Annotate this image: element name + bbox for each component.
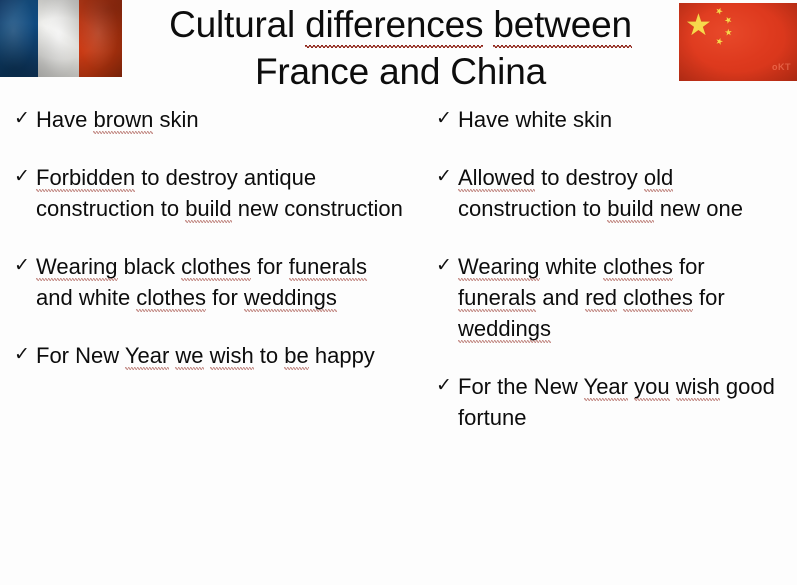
- checkmark-icon: ✓: [436, 104, 458, 133]
- slide-title-line-2: France and China: [128, 49, 673, 96]
- misspelled-word: Year: [125, 343, 169, 368]
- bullet-item: ✓For New Year we wish to be happy: [14, 340, 406, 371]
- misspelled-word: you: [634, 374, 669, 399]
- checkmark-icon: ✓: [14, 340, 36, 369]
- bullet-text-run: For the New: [458, 374, 584, 399]
- bullet-item: ✓For the New Year you wish good fortune: [436, 371, 786, 433]
- slide-title-line-1: Cultural differences between: [128, 2, 673, 49]
- misspelled-word: old: [644, 165, 673, 190]
- misspelled-word: weddings: [458, 316, 551, 341]
- bullet-text: For the New Year you wish good fortune: [458, 371, 786, 433]
- misspelled-word: Allowed: [458, 165, 535, 190]
- france-flag-red-band: [79, 0, 122, 77]
- china-flag-watermark: oKT: [772, 62, 791, 72]
- misspelled-word: build: [185, 196, 231, 221]
- checkmark-icon: ✓: [436, 162, 458, 191]
- bullet-text: Allowed to destroy old construction to b…: [458, 162, 786, 224]
- bullet-item: ✓Have white skin: [436, 104, 786, 135]
- bullet-text-run: and: [536, 285, 585, 310]
- title-text-space: [483, 4, 493, 45]
- checkmark-icon: ✓: [436, 251, 458, 280]
- misspelled-word: be: [284, 343, 308, 368]
- bullet-text-run: for: [251, 254, 289, 279]
- bullet-text-run: skin: [153, 107, 198, 132]
- bullet-text-run: [204, 343, 210, 368]
- bullet-item: ✓Wearing white clothes for funerals and …: [436, 251, 786, 344]
- misspelled-word: funerals: [458, 285, 536, 310]
- china-flag-small-star-4: ★: [714, 37, 723, 45]
- france-flag-blue-band: [0, 0, 38, 77]
- france-column: ✓Have brown skin✓Forbidden to destroy an…: [14, 104, 406, 398]
- bullet-text-run: construction to: [458, 196, 607, 221]
- misspelled-word: clothes: [603, 254, 673, 279]
- misspelled-word: build: [607, 196, 653, 221]
- misspelled-word: brown: [93, 107, 153, 132]
- misspelled-word: Year: [584, 374, 628, 399]
- bullet-text-run: Have: [36, 107, 93, 132]
- bullet-text-run: for: [206, 285, 244, 310]
- bullet-text-run: to: [254, 343, 285, 368]
- bullet-text-run: new construction: [232, 196, 403, 221]
- bullet-text-run: for: [673, 254, 705, 279]
- misspelled-word: wish: [676, 374, 720, 399]
- france-flag: [0, 0, 122, 77]
- bullet-text: Have white skin: [458, 104, 786, 135]
- bullet-item: ✓Allowed to destroy old construction to …: [436, 162, 786, 224]
- bullet-text-run: For New: [36, 343, 125, 368]
- bullet-item: ✓Have brown skin: [14, 104, 406, 135]
- title-text-prefix: Cultural: [169, 4, 305, 45]
- china-flag-large-star: ★: [685, 11, 712, 41]
- misspelled-word: clothes: [181, 254, 251, 279]
- bullet-item: ✓Wearing black clothes for funerals and …: [14, 251, 406, 313]
- misspelled-word: Wearing: [36, 254, 118, 279]
- bullet-text: For New Year we wish to be happy: [36, 340, 406, 371]
- misspelled-word: wish: [210, 343, 254, 368]
- checkmark-icon: ✓: [436, 371, 458, 400]
- china-column: ✓Have white skin✓Allowed to destroy old …: [436, 104, 786, 460]
- bullet-text: Wearing black clothes for funerals and w…: [36, 251, 406, 313]
- title-word-differences: differences: [305, 4, 483, 45]
- bullet-text-run: Have white skin: [458, 107, 612, 132]
- bullet-text-run: black: [118, 254, 182, 279]
- bullet-text-run: happy: [309, 343, 375, 368]
- france-flag-white-band: [38, 0, 79, 77]
- misspelled-word: red: [585, 285, 617, 310]
- misspelled-word: weddings: [244, 285, 337, 310]
- checkmark-icon: ✓: [14, 162, 36, 191]
- misspelled-word: we: [175, 343, 203, 368]
- checkmark-icon: ✓: [14, 104, 36, 133]
- misspelled-word: clothes: [136, 285, 206, 310]
- bullet-text-run: white: [540, 254, 604, 279]
- slide-title: Cultural differences between France and …: [128, 2, 673, 95]
- slide-canvas: ★ ★ ★ ★ ★ oKT Cultural differences betwe…: [0, 0, 797, 585]
- china-flag: ★ ★ ★ ★ ★ oKT: [679, 3, 797, 81]
- misspelled-word: funerals: [289, 254, 367, 279]
- bullet-text-run: to destroy: [535, 165, 644, 190]
- misspelled-word: clothes: [623, 285, 693, 310]
- bullet-text-run: for: [693, 285, 725, 310]
- title-word-between: between: [493, 4, 632, 45]
- china-flag-small-star-2: ★: [722, 14, 734, 26]
- misspelled-word: Forbidden: [36, 165, 135, 190]
- bullet-text: Forbidden to destroy antique constructio…: [36, 162, 406, 224]
- china-flag-small-star-1: ★: [714, 6, 725, 17]
- bullet-text-run: and white: [36, 285, 136, 310]
- checkmark-icon: ✓: [14, 251, 36, 280]
- misspelled-word: Wearing: [458, 254, 540, 279]
- bullet-item: ✓Forbidden to destroy antique constructi…: [14, 162, 406, 224]
- bullet-text-run: new one: [654, 196, 743, 221]
- bullet-text: Have brown skin: [36, 104, 406, 135]
- bullet-text-run: [670, 374, 676, 399]
- bullet-text: Wearing white clothes for funerals and r…: [458, 251, 786, 344]
